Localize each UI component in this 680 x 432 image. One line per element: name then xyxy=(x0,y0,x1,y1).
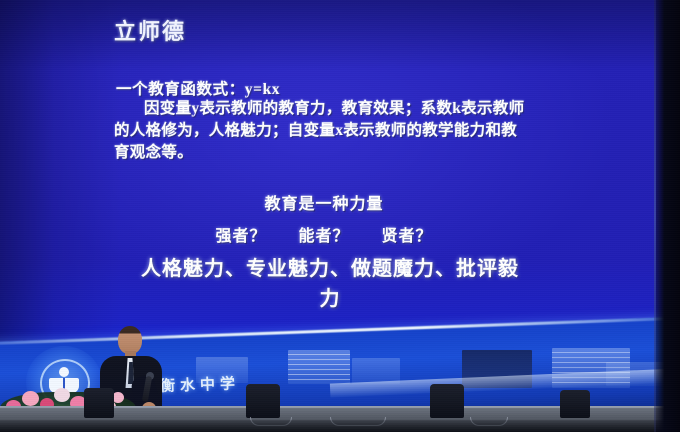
highlight-line-1: 人格魅力、专业魅力、做题魔力、批评毅 xyxy=(0,254,660,284)
flower xyxy=(22,391,39,406)
question-able: 能者？ xyxy=(298,228,349,245)
projection-screen-right-edge xyxy=(654,0,680,432)
paragraph-line-2: 的人格修为，人格魅力；自变量x表示教师的教学能力和教 xyxy=(114,120,566,142)
speaker-head xyxy=(118,326,142,354)
stage-light-unit xyxy=(84,388,114,418)
stage-foreground-shadow xyxy=(0,420,680,432)
stage-light-unit xyxy=(560,390,590,418)
presentation-video-frame: 立师德 一个教育函数式：y=kx 因变量y表示教师的教育力，教育效果；系数k表示… xyxy=(0,0,680,432)
slide-title: 立师德 xyxy=(114,14,186,46)
question-strong: 强者？ xyxy=(215,228,266,245)
stage-light-unit xyxy=(246,384,280,418)
paragraph-line-1: 因变量y表示教师的教育力，教育效果；系数k表示教师 xyxy=(114,98,566,120)
question-wise: 贤者？ xyxy=(382,228,433,245)
stage-light-unit xyxy=(430,384,464,418)
centered-statement: 教育是一种力量 xyxy=(0,190,648,214)
body-paragraph: 因变量y表示教师的教育力，教育效果；系数k表示教师 的人格修为，人格魅力；自变量… xyxy=(114,98,566,164)
projection-screen-edge-highlight xyxy=(654,0,656,432)
paragraph-line-3: 育观念等。 xyxy=(114,142,566,164)
backdrop-building-b-windows xyxy=(288,354,350,384)
formula-line: 一个教育函数式：y=kx xyxy=(116,77,280,99)
flower xyxy=(54,388,70,402)
stage-area: 北衡水中学 xyxy=(0,302,680,432)
question-row: 强者？ 能者？ 贤者？ xyxy=(0,222,648,246)
